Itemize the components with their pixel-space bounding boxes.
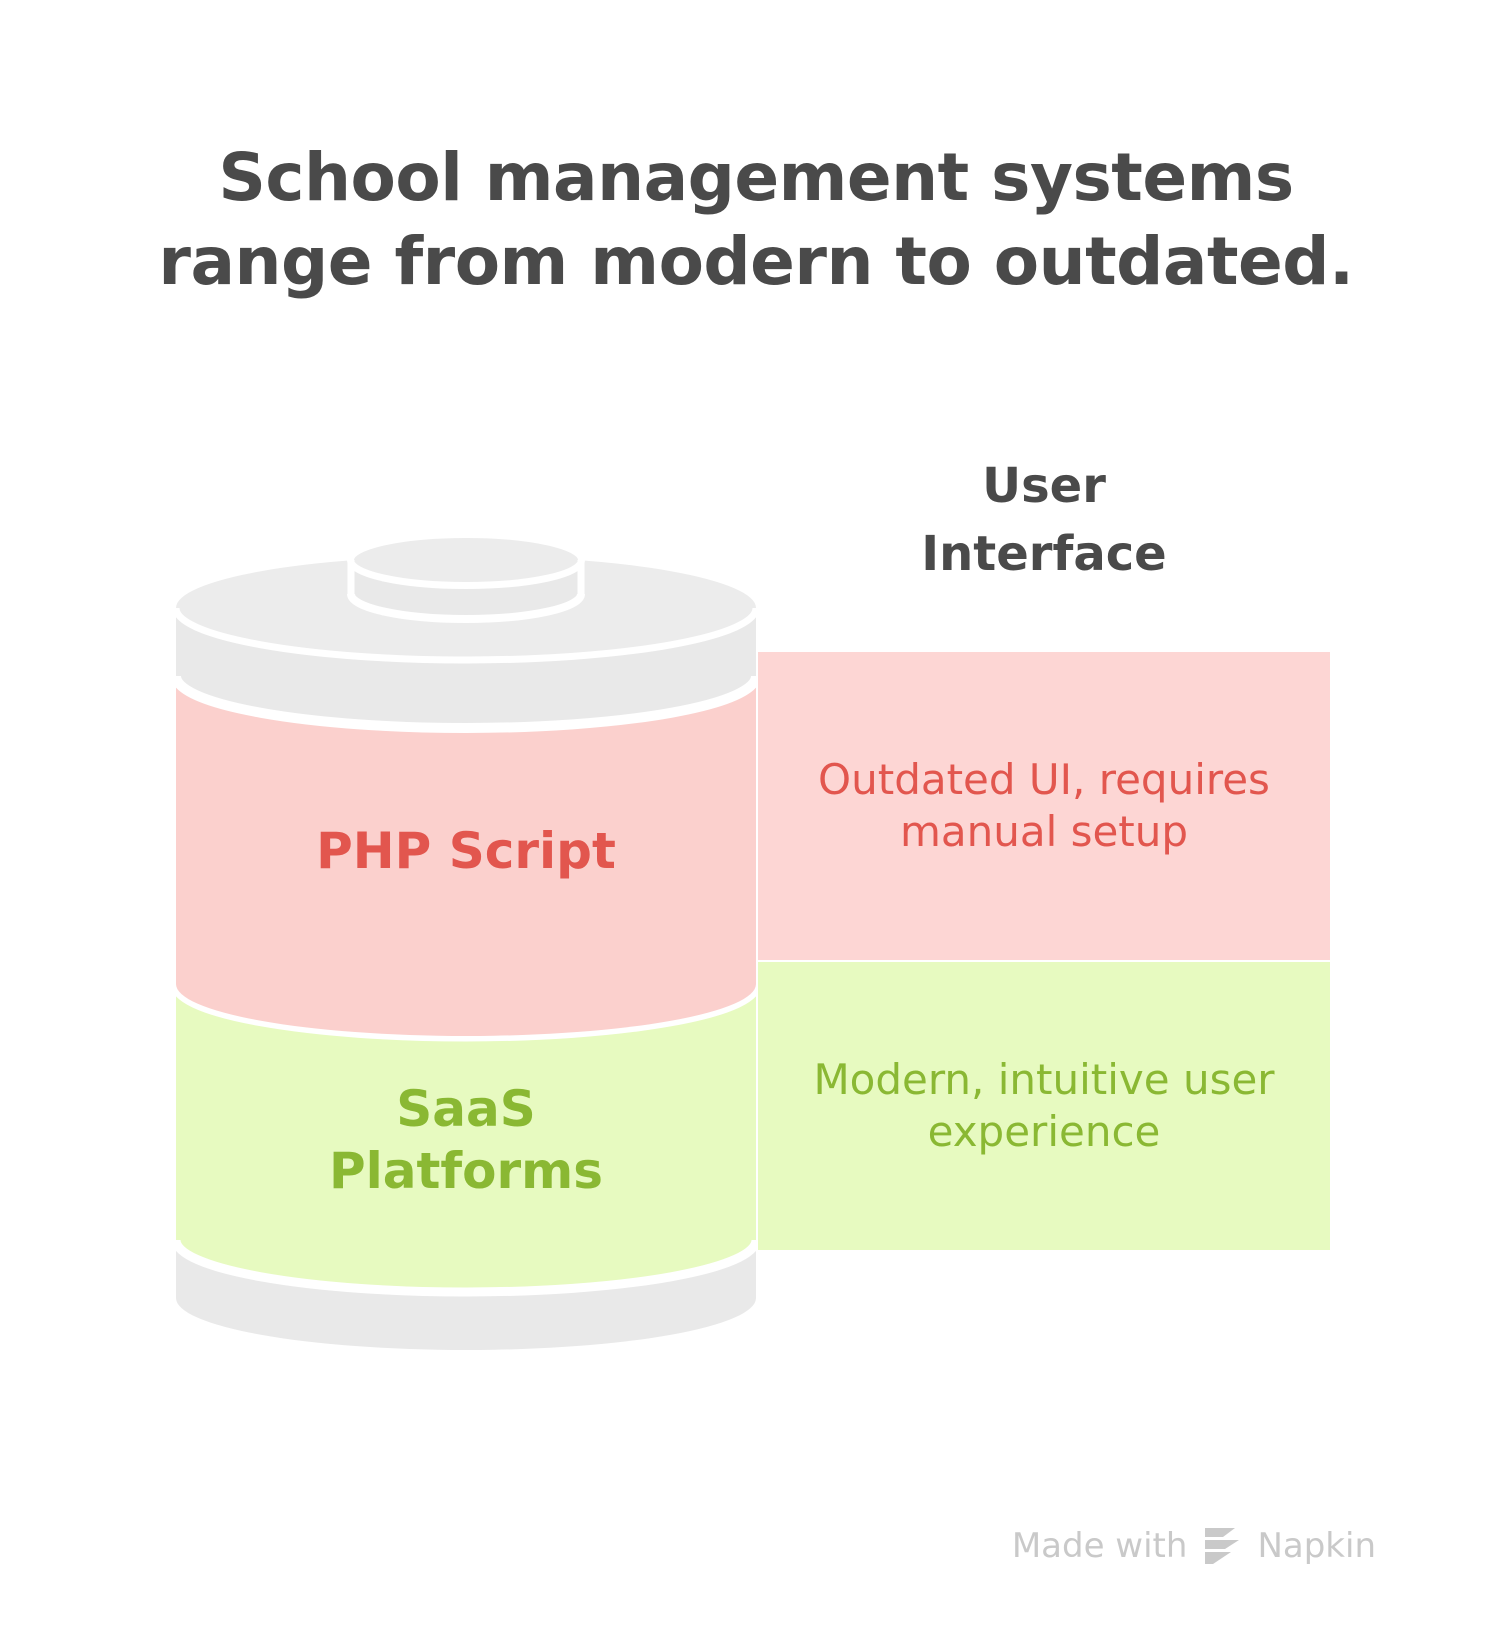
cylinder-diagram: PHP Script SaaS Platforms (176, 528, 756, 1356)
panel-php-script-ui-text: Outdated UI, requires manual setup (786, 754, 1302, 858)
page-title-line-1: School management systems (60, 136, 1452, 220)
panel-saas-platforms-ui-text: Modern, intuitive user experience (786, 1054, 1302, 1158)
panel-php-script-ui[interactable]: Outdated UI, requires manual setup (758, 652, 1330, 960)
cylinder-graphic (176, 528, 756, 1356)
column-header-user-interface: User Interface (758, 452, 1330, 588)
watermark-brand: Napkin (1257, 1526, 1376, 1566)
column-header-line-2: Interface (758, 520, 1330, 588)
panel-saas-platforms-ui[interactable]: Modern, intuitive user experience (758, 962, 1330, 1250)
column-header-line-1: User (758, 452, 1330, 520)
napkin-stripes-logo-icon (1201, 1526, 1243, 1566)
page-title-line-2: range from modern to outdated. (60, 220, 1452, 304)
made-with-napkin-watermark: Made with Napkin (1012, 1526, 1376, 1566)
watermark-prefix: Made with (1012, 1526, 1188, 1566)
page-title: School management systems range from mod… (60, 136, 1452, 304)
cylinder-top-knob (351, 535, 581, 619)
